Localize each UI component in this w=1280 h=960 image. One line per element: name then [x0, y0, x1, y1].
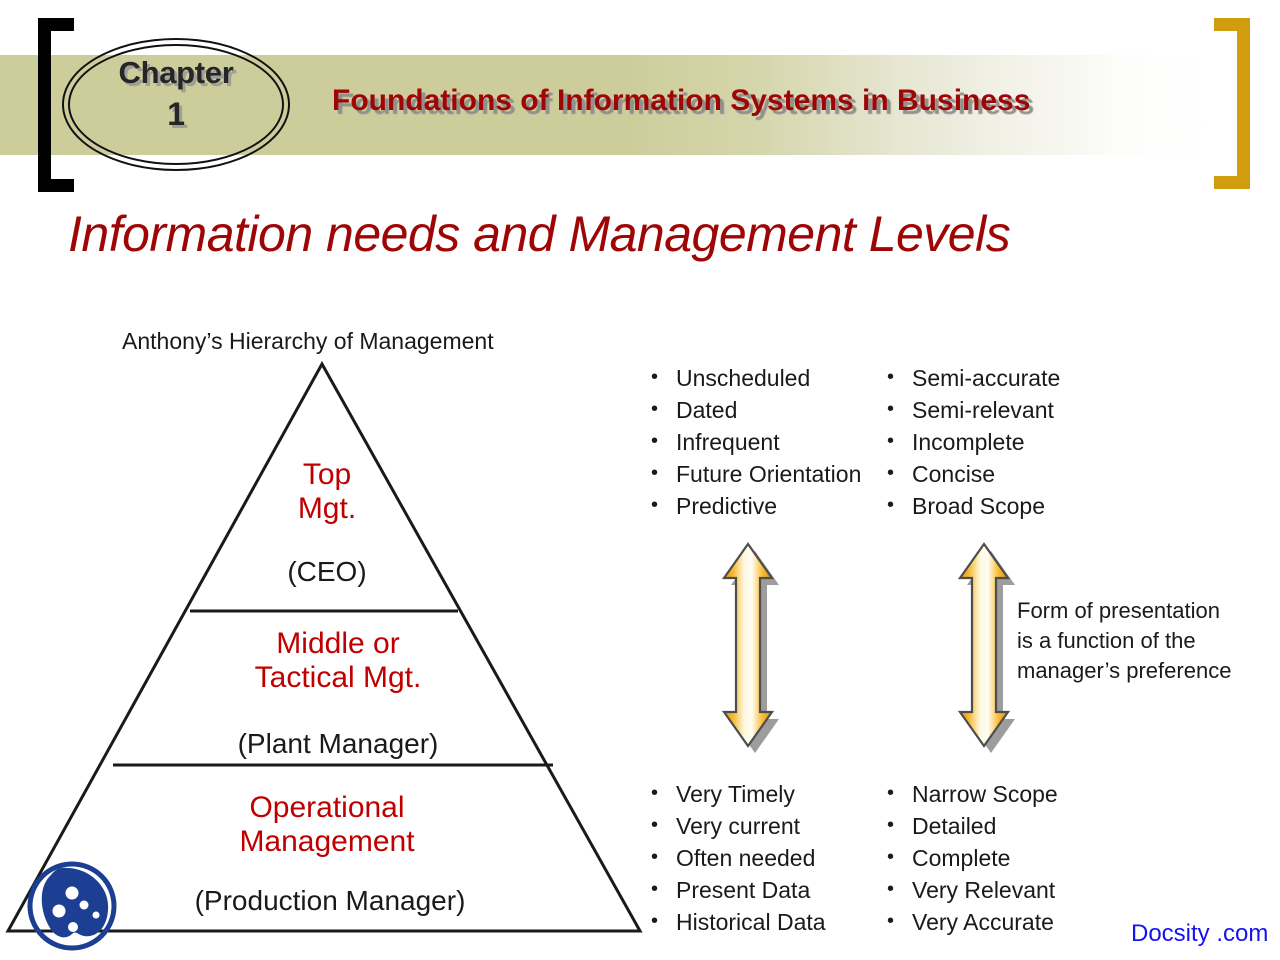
- list-item: Very Accurate: [882, 906, 1058, 938]
- bullet-list-top-left: Unscheduled Dated Infrequent Future Orie…: [646, 362, 861, 522]
- presentation-form-note: Form of presentation is a function of th…: [1017, 596, 1267, 686]
- pyramid-level-1-name: Top Mgt.: [232, 458, 422, 525]
- chapter-badge: Chapter 1: [62, 52, 290, 136]
- list-item: Present Data: [646, 874, 826, 906]
- banner-title: Foundations of Information Systems in Bu…: [332, 84, 1192, 118]
- list-item: Dated: [646, 394, 861, 426]
- list-item: Narrow Scope: [882, 778, 1058, 810]
- logo-dot-5: [68, 922, 78, 932]
- note-line-2: is a function of the: [1017, 626, 1267, 656]
- list-item: Often needed: [646, 842, 826, 874]
- list-item: Semi-relevant: [882, 394, 1060, 426]
- pyramid-level-1-line-2: Mgt.: [232, 492, 422, 526]
- logo-dot-4: [93, 912, 100, 919]
- list-item: Unscheduled: [646, 362, 861, 394]
- slide-root: Chapter 1 Foundations of Information Sys…: [0, 0, 1280, 960]
- list-item: Complete: [882, 842, 1058, 874]
- list-item: Historical Data: [646, 906, 826, 938]
- pyramid-level-2-role: (Plant Manager): [198, 728, 478, 759]
- docsity-watermark: Docsity .com: [1131, 920, 1268, 948]
- note-line-1: Form of presentation: [1017, 596, 1267, 626]
- list-item: Broad Scope: [882, 490, 1060, 522]
- pyramid-level-3-role: (Production Manager): [155, 885, 505, 916]
- chapter-label: Chapter: [118, 55, 233, 90]
- pyramid-level-2-name: Middle or Tactical Mgt.: [218, 627, 458, 694]
- list-item: Incomplete: [882, 426, 1060, 458]
- list-item: Very Timely: [646, 778, 826, 810]
- right-bracket-decoration: [1214, 18, 1250, 189]
- pyramid-level-1-line-1: Top: [232, 458, 422, 492]
- list-item: Concise: [882, 458, 1060, 490]
- bullet-list-top-right-items: Semi-accurate Semi-relevant Incomplete C…: [882, 362, 1060, 522]
- note-line-3: manager’s preference: [1017, 656, 1267, 686]
- list-item: Infrequent: [646, 426, 861, 458]
- bullet-list-bottom-right-items: Narrow Scope Detailed Complete Very Rele…: [882, 778, 1058, 938]
- bullet-list-bottom-left-items: Very Timely Very current Often needed Pr…: [646, 778, 826, 938]
- pyramid-level-3-line-1: Operational: [192, 791, 462, 825]
- pyramid-level-2-line-2: Tactical Mgt.: [218, 661, 458, 695]
- bullet-list-top-left-items: Unscheduled Dated Infrequent Future Orie…: [646, 362, 861, 522]
- page-title: Information needs and Management Levels: [68, 205, 1218, 263]
- pyramid-level-3-line-2: Management: [192, 825, 462, 859]
- bullet-list-bottom-right: Narrow Scope Detailed Complete Very Rele…: [882, 778, 1058, 938]
- logo-dot-3: [80, 901, 89, 910]
- double-arrow-group: [700, 530, 1060, 760]
- bullet-list-top-right: Semi-accurate Semi-relevant Incomplete C…: [882, 362, 1060, 522]
- pyramid-level-2-line-1: Middle or: [218, 627, 458, 661]
- logo-dot-1: [66, 887, 79, 900]
- chapter-number: 1: [62, 93, 290, 136]
- list-item: Detailed: [882, 810, 1058, 842]
- list-item: Very Relevant: [882, 874, 1058, 906]
- pyramid-level-3-name: Operational Management: [192, 791, 462, 858]
- bullet-list-bottom-left: Very Timely Very current Often needed Pr…: [646, 778, 826, 938]
- list-item: Semi-accurate: [882, 362, 1060, 394]
- logo-dot-2: [53, 905, 66, 918]
- pyramid-level-1-role: (CEO): [232, 556, 422, 587]
- list-item: Predictive: [646, 490, 861, 522]
- list-item: Future Orientation: [646, 458, 861, 490]
- docsity-logo-icon: [22, 858, 122, 954]
- list-item: Very current: [646, 810, 826, 842]
